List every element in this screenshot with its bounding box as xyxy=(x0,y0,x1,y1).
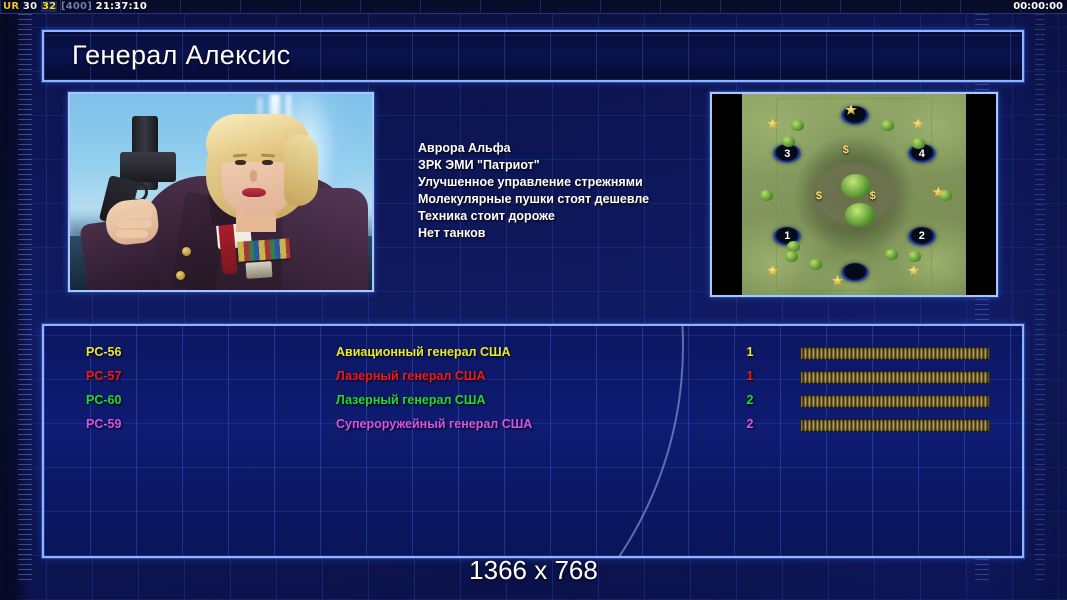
title-panel: Генерал Алексис xyxy=(42,30,1024,82)
player-team: 1 xyxy=(716,369,784,383)
minimap-forest-icon xyxy=(841,174,871,198)
lips xyxy=(242,188,266,197)
minimap-cash-icon: $ xyxy=(816,190,822,202)
uniform-button-icon-1 xyxy=(182,247,191,256)
player-rows: PC-56Авиационный генерал США1PC-57Лазерн… xyxy=(44,342,1024,438)
minimap-tree-icon xyxy=(885,249,898,260)
eye-right xyxy=(262,160,273,165)
table-row[interactable]: PC-57Лазерный генерал США1 xyxy=(44,366,1024,390)
general-portrait-image xyxy=(70,94,372,290)
medal-ribbons-icon xyxy=(237,238,290,262)
player-team: 2 xyxy=(716,417,784,431)
player-name: PC-60 xyxy=(86,393,121,407)
top-bar-grid xyxy=(0,0,1067,13)
player-team: 1 xyxy=(716,345,784,359)
minimap-tree-icon xyxy=(787,241,800,252)
resource-readout: UR 30 32 [400] 21:37:10 xyxy=(3,1,147,12)
money-cap-value: [400] xyxy=(61,1,92,12)
money-value: 32 xyxy=(41,1,57,12)
right-ruler-ticks-secondary xyxy=(1035,14,1045,580)
resolution-label: 1366 x 768 xyxy=(0,555,1067,586)
player-list-header: Имя игрока Армия Команда Прогресс xyxy=(44,324,1024,326)
power-value: 30 xyxy=(23,1,37,12)
player-progress-bar xyxy=(800,395,990,408)
minimap-image[interactable]: $ $ $ 1 2 3 4 xyxy=(742,94,966,295)
uniform-button-icon-2 xyxy=(176,271,185,280)
player-army: Авиационный генерал США xyxy=(336,345,511,359)
minimap-tree-icon xyxy=(809,259,822,270)
general-detail-section: Аврора Альфа ЗРК ЭМИ "Патриот" Улучшенно… xyxy=(42,92,1024,307)
minimap-tree-icon xyxy=(791,120,804,131)
player-army: Лазерный генерал США xyxy=(336,393,485,407)
minimap-tree-icon xyxy=(760,190,773,201)
player-progress-bar xyxy=(800,371,990,384)
page-title: Генерал Алексис xyxy=(72,40,291,71)
minimap-start-position-bottom[interactable] xyxy=(841,263,869,282)
player-name: PC-56 xyxy=(86,345,121,359)
eye-left xyxy=(235,160,246,165)
pistol-slide-icon xyxy=(120,152,176,182)
game-clock: 21:37:10 xyxy=(96,1,147,12)
resource-label: UR xyxy=(3,1,19,12)
table-row[interactable]: PC-59Супероружейный генерал США2 xyxy=(44,414,1024,438)
player-army: Супероружейный генерал США xyxy=(336,417,532,431)
session-clock: 00:00:00 xyxy=(1013,1,1063,12)
general-info-screen: Генерал Алексис xyxy=(42,30,1024,558)
hair-side xyxy=(284,134,318,206)
finger-2 xyxy=(116,220,152,228)
minimap-tree-icon xyxy=(908,251,921,262)
top-status-bar: UR 30 32 [400] 21:37:10 00:00:00 xyxy=(0,0,1067,14)
finger-1 xyxy=(118,210,152,218)
uniform-badge-icon xyxy=(245,261,272,279)
minimap-tree-icon xyxy=(881,120,894,131)
minimap-cash-icon: $ xyxy=(870,190,876,202)
player-progress-bar xyxy=(800,419,990,432)
finger-3 xyxy=(116,230,148,238)
player-name: PC-59 xyxy=(86,417,121,431)
player-army: Лазерный генерал США xyxy=(336,369,485,383)
minimap-tree-icon xyxy=(785,251,798,262)
player-team: 2 xyxy=(716,393,784,407)
nose xyxy=(250,170,257,182)
player-name: PC-57 xyxy=(86,369,121,383)
minimap-cash-icon: $ xyxy=(843,144,849,156)
minimap-frame[interactable]: $ $ $ 1 2 3 4 xyxy=(710,92,998,297)
left-ruler-ticks xyxy=(18,14,32,580)
general-portrait-frame xyxy=(68,92,374,292)
table-row[interactable]: PC-56Авиационный генерал США1 xyxy=(44,342,1024,366)
player-progress-bar xyxy=(800,347,990,360)
minimap-forest-icon xyxy=(845,203,875,227)
minimap-start-position-2[interactable]: 2 xyxy=(908,227,936,246)
player-list-panel: Имя игрока Армия Команда Прогресс PC-56А… xyxy=(42,324,1024,558)
table-row[interactable]: PC-60Лазерный генерал США2 xyxy=(44,390,1024,414)
